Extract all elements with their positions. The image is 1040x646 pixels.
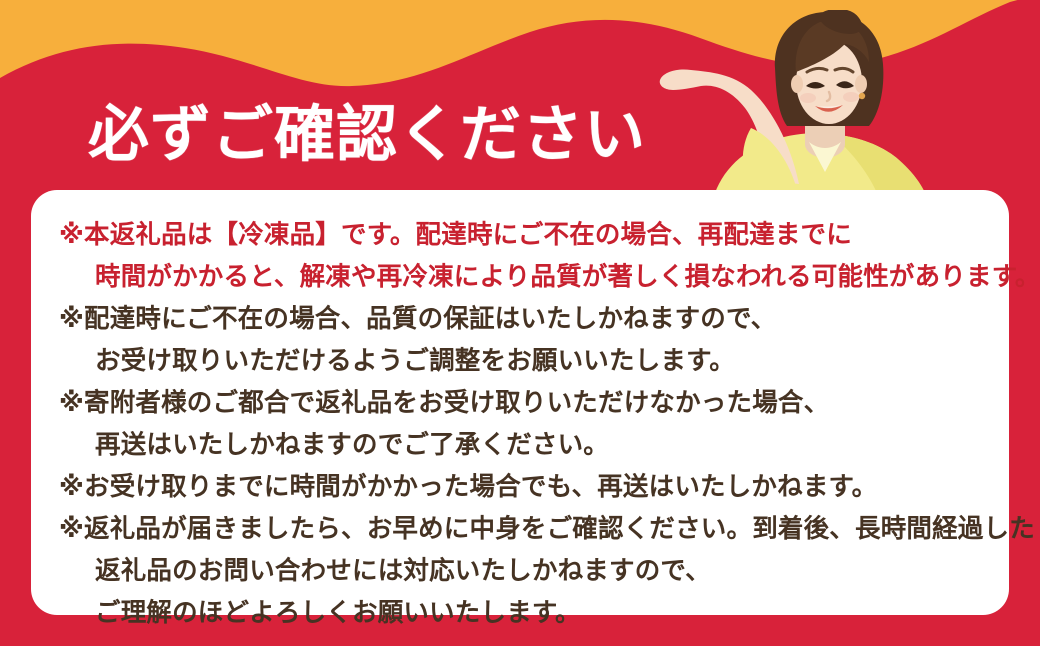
notice-line: ※寄附者様のご都合で返礼品をお受け取りいただけなかった場合、 bbox=[59, 382, 993, 424]
notice-line: 再送はいたしかねますのでご了承ください。 bbox=[59, 424, 993, 466]
notice-item: ※お受け取りまでに時間がかかった場合でも、再送はいたしかねます。 bbox=[59, 466, 993, 508]
notice-item: ※寄附者様のご都合で返礼品をお受け取りいただけなかった場合、 再送はいたしかねま… bbox=[59, 382, 993, 466]
page-title: 必ずご確認ください bbox=[88, 96, 688, 172]
notice-item: ※配達時にご不在の場合、品質の保証はいたしかねますので、 お受け取りいただけるよ… bbox=[59, 298, 993, 382]
notice-card: ※本返礼品は【冷凍品】です。配達時にご不在の場合、再配達までに 時間がかかると、… bbox=[31, 190, 1009, 615]
notice-line: 返礼品のお問い合わせには対応いたしかねますので、 bbox=[59, 550, 993, 592]
notice-line: ※本返礼品は【冷凍品】です。配達時にご不在の場合、再配達までに bbox=[59, 214, 993, 256]
notice-line: 時間がかかると、解凍や再冷凍により品質が著しく損なわれる可能性があります。 bbox=[59, 256, 993, 298]
notice-line: ※返礼品が届きましたら、お早めに中身をご確認ください。到着後、長時間経過した bbox=[59, 508, 993, 550]
notice-line: ※お受け取りまでに時間がかかった場合でも、再送はいたしかねます。 bbox=[59, 466, 993, 508]
notice-item: ※本返礼品は【冷凍品】です。配達時にご不在の場合、再配達までに 時間がかかると、… bbox=[59, 214, 993, 298]
notice-banner: 必ずご確認ください ※本返礼品は【冷凍品】です。配達時にご不在の場合、再配達まで… bbox=[0, 0, 1040, 646]
notice-line: ※配達時にご不在の場合、品質の保証はいたしかねますので、 bbox=[59, 298, 993, 340]
notice-list: ※本返礼品は【冷凍品】です。配達時にご不在の場合、再配達までに 時間がかかると、… bbox=[59, 214, 993, 634]
notice-line: ご理解のほどよろしくお願いいたします。 bbox=[59, 592, 993, 634]
notice-line: お受け取りいただけるようご調整をお願いいたします。 bbox=[59, 340, 993, 382]
notice-item: ※返礼品が届きましたら、お早めに中身をご確認ください。到着後、長時間経過した 返… bbox=[59, 508, 993, 634]
